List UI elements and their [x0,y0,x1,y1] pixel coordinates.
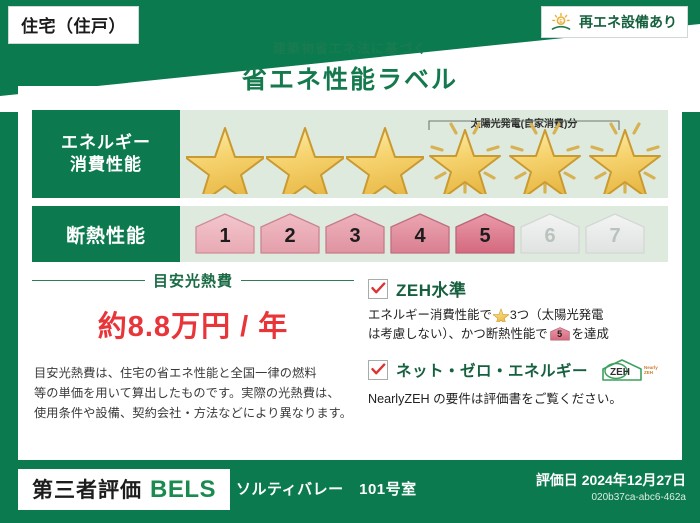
zeh-body-part-2: 3つ（太陽光発電 [510,308,604,322]
bels-en-label: BELS [150,476,216,504]
cost-note: 目安光熱費は、住宅の省エネ性能と全国一律の燃料 等の単価を用いて算出したものです… [34,364,354,423]
zeh-claims-block: ZEH水準 エネルギー消費性能で3つ（太陽光発電は考慮しない）、かつ断熱性能で5… [368,276,668,415]
insulation-levels: 1 2 3 4 [180,212,646,256]
insulation-level-5-label: 5 [454,225,516,248]
house-badge-value: 5 [550,328,570,342]
energy-label-line1: エネルギー [32,132,180,154]
title-subtitle: 建築物省エネ法に基づく [0,38,700,57]
title-block: 建築物省エネ法に基づく 省エネ性能ラベル [0,38,700,96]
check-icon [371,282,386,295]
stars-area: 太陽光発電(自家消費)分 [180,110,668,198]
footer: 第三者評価 BELS ソルティバレー 101号室 評価日 2024年12月27日… [0,462,700,523]
insulation-level-3: 3 [324,212,386,256]
insulation-level-4: 4 [389,212,451,256]
evaluation-date: 評価日 2024年12月27日 [536,470,686,490]
zeh-house-logo: ZEH Nearly ZEH [600,358,654,382]
star-1 [186,110,264,198]
zeh-standard-head: ZEH水準 [368,276,668,301]
energy-performance-label: エネルギー 消費性能 [32,110,180,198]
zeh-body-part-3: は考慮しない）、かつ断熱性能で [368,327,548,341]
star-3 [346,110,424,198]
page-title: 省エネ性能ラベル [0,60,700,96]
bels-jp-label: 第三者評価 [32,474,142,504]
insulation-level-6: 6 [519,212,581,256]
cost-heading-row: 目安光熱費 [32,270,354,291]
insulation-level-1-label: 1 [194,225,256,248]
cost-value: 約8.8万円 / 年 [32,303,354,345]
renewable-equipment-badge: E 再エネ設備あり [541,6,688,38]
star-icon [493,306,509,322]
net-zero-energy-claim: ネット・ゼロ・エネルギー ZEH Nearly ZEH NearlyZEH の要… [368,358,668,407]
cost-heading: 目安光熱費 [153,270,233,291]
insulation-level-6-label: 6 [519,225,581,248]
zeh-body-part-4: を達成 [572,327,609,341]
net-zero-head: ネット・ゼロ・エネルギー ZEH Nearly ZEH [368,358,668,382]
estimated-utility-cost-block: 目安光熱費 約8.8万円 / 年 [32,270,354,345]
building-name: ソルティバレー 101号室 [236,478,417,499]
insulation-performance-row: 断熱性能 [32,206,668,262]
renewable-badge-label: 再エネ設備あり [579,12,677,32]
net-zero-body: NearlyZEH の要件は評価書をご覧ください。 [368,388,668,407]
zeh-body-part-1: エネルギー消費性能で [368,308,492,322]
star-2 [266,110,344,198]
cost-note-line-1: 目安光熱費は、住宅の省エネ性能と全国一律の燃料 [34,364,354,384]
house-badge-icon: 5 [550,326,570,342]
energy-performance-row: エネルギー 消費性能 太陽光発電(自家消費)分 [32,110,668,198]
net-zero-checkbox [368,360,388,380]
insulation-level-4-label: 4 [389,225,451,248]
insulation-level-2-label: 2 [259,225,321,248]
label-card: エネルギー 消費性能 太陽光発電(自家消費)分 [18,86,682,460]
insulation-performance-label: 断熱性能 [32,206,180,262]
cost-note-line-2: 等の単価を用いて算出したものです。実際の光熱費は、 [34,384,354,404]
solar-bracket [428,119,620,131]
energy-label-line2: 消費性能 [32,154,180,176]
cost-rule-left [32,280,145,281]
insulation-level-1: 1 [194,212,256,256]
cost-note-line-3: 使用条件や設備、契約会社・方法などにより異なります。 [34,404,354,424]
evaluation-id: 020b37ca-abc6-462a [591,492,686,503]
sun-icon: E [550,12,572,32]
cost-rule-right [241,280,354,281]
zeh-standard-title: ZEH水準 [396,276,467,301]
svg-text:ZEH: ZEH [610,367,630,378]
check-icon [371,363,386,376]
insulation-level-3-label: 3 [324,225,386,248]
insulation-level-7-label: 7 [584,225,646,248]
insulation-level-5: 5 [454,212,516,256]
insulation-level-2: 2 [259,212,321,256]
zeh-standard-claim: ZEH水準 エネルギー消費性能で3つ（太陽光発電は考慮しない）、かつ断熱性能で5… [368,276,668,344]
bels-certification-box: 第三者評価 BELS [18,469,230,510]
zeh-logo-sub1: Nearly [644,365,658,370]
zeh-standard-checkbox [368,279,388,299]
insulation-level-7: 7 [584,212,646,256]
zeh-logo-sub2: ZEH [644,370,653,375]
net-zero-title: ネット・ゼロ・エネルギー [396,359,588,381]
zeh-standard-body: エネルギー消費性能で3つ（太陽光発電は考慮しない）、かつ断熱性能で5を達成 [368,306,668,344]
